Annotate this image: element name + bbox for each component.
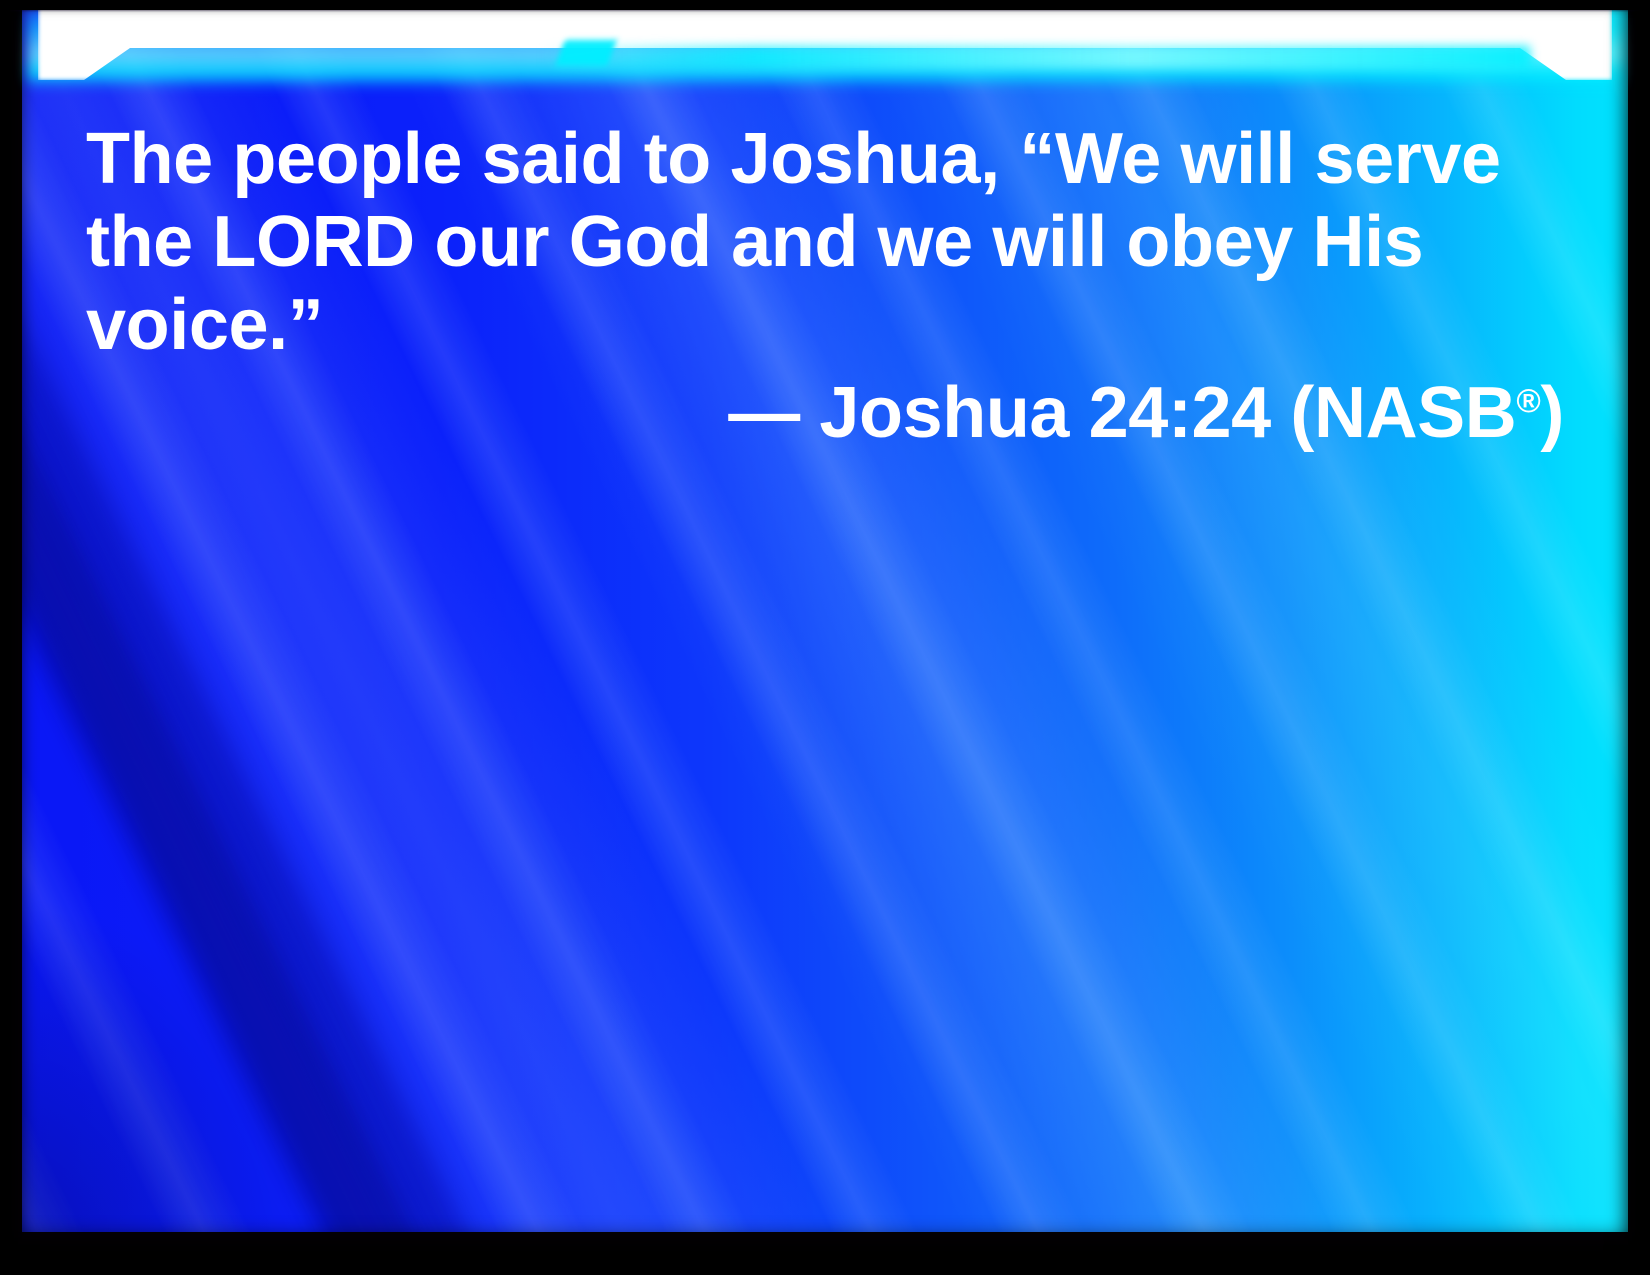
registered-trademark-icon: ®: [1516, 383, 1540, 420]
verse-line-1: The people said to Joshua, “We will serv…: [86, 118, 1506, 201]
verse-text-block: The people said to Joshua, “We will serv…: [86, 118, 1506, 367]
attribution-prefix: — Joshua 24:24 (NASB: [728, 373, 1516, 453]
verse-line-2: the LORD our God and we will obey His: [86, 201, 1506, 284]
text-layer: The people said to Joshua, “We will serv…: [0, 0, 1650, 1275]
verse-slide: The people said to Joshua, “We will serv…: [0, 0, 1650, 1275]
verse-attribution: — Joshua 24:24 (NASB®): [728, 372, 1564, 455]
verse-line-3: voice.”: [86, 284, 1506, 367]
attribution-suffix: ): [1540, 373, 1564, 453]
